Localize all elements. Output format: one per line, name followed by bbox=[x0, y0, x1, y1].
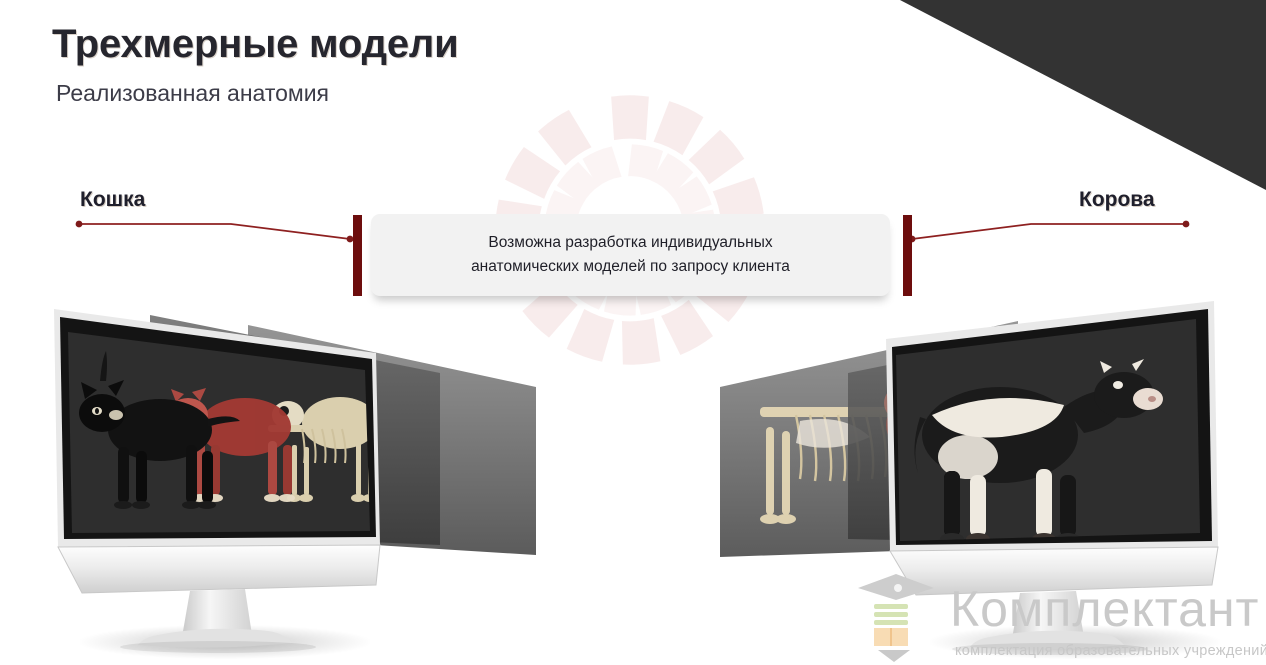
label-cat: Кошка bbox=[80, 188, 145, 212]
cat-monitor bbox=[40, 295, 560, 665]
slide-canvas: Трехмерные модели Реализованная анатомия… bbox=[0, 0, 1266, 665]
brand-name: Комплектант bbox=[950, 580, 1259, 638]
callout-accent-bar-left bbox=[353, 215, 362, 296]
page-subtitle: Реализованная анатомия bbox=[56, 80, 329, 107]
page-title: Трехмерные модели bbox=[52, 22, 458, 67]
callout-box: Возможна разработка индивидуальных анато… bbox=[371, 214, 890, 296]
callout-accent-bar-right bbox=[903, 215, 912, 296]
callout-line-1: Возможна разработка индивидуальных bbox=[488, 234, 772, 251]
label-cow: Корова bbox=[1079, 188, 1155, 212]
callout-line-2: анатомических моделей по запросу клиента bbox=[471, 258, 790, 275]
callout-text: Возможна разработка индивидуальных анато… bbox=[445, 231, 816, 278]
corner-wedge-decoration bbox=[876, 0, 1266, 190]
cat-display bbox=[40, 295, 560, 665]
brand-tagline: комплектация образовательных учреждений bbox=[955, 643, 1266, 659]
brand-logo-mark bbox=[848, 566, 944, 662]
